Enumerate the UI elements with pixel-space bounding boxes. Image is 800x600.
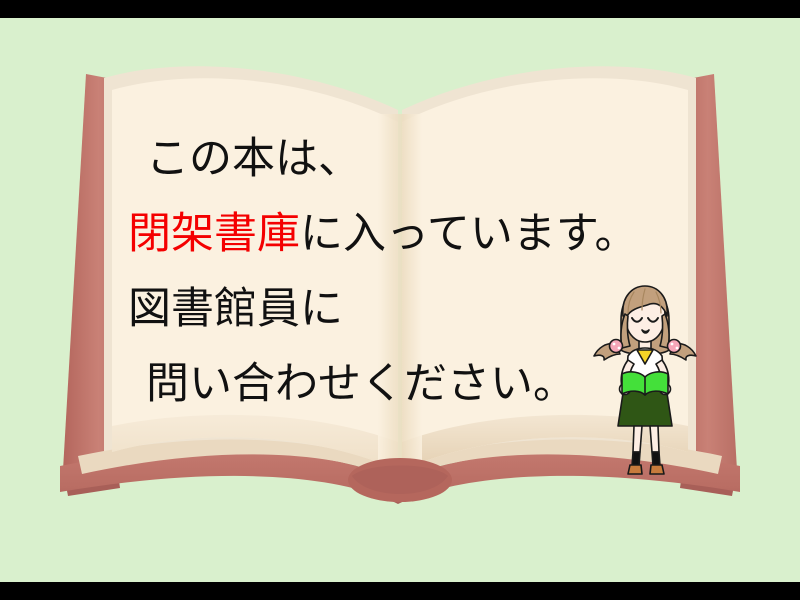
notice-line-2-rest: に入っています。 [300,209,638,259]
book-spine [348,458,452,502]
girl-reading-illustration [592,280,698,480]
shoe-right [650,465,664,474]
notice-line-1: この本は、 [128,122,688,197]
leg-left [633,426,642,452]
leg-right [650,426,659,452]
sock-left [632,452,640,466]
hairtie-right-icon [668,340,681,353]
notice-line-2: 閉架書庫に入っています。 [128,197,688,272]
notice-line-4-text: 問い合わせください。 [146,359,576,409]
notice-line-3-text: 図書館員に [128,284,343,334]
sock-right [652,452,660,466]
notice-line-1-text: この本は、 [146,134,361,184]
hairtie-left-icon [610,340,623,353]
screenshot-stage: この本は、 閉架書庫に入っています。 図書館員に 問い合わせください。 [0,0,800,600]
mint-background: この本は、 閉架書庫に入っています。 図書館員に 問い合わせください。 [0,18,800,582]
shoe-left [628,465,642,474]
letterbox-bar-top [0,0,800,18]
notice-highlight-closed-stacks: 閉架書庫 [128,209,300,259]
letterbox-bar-bottom [0,582,800,600]
